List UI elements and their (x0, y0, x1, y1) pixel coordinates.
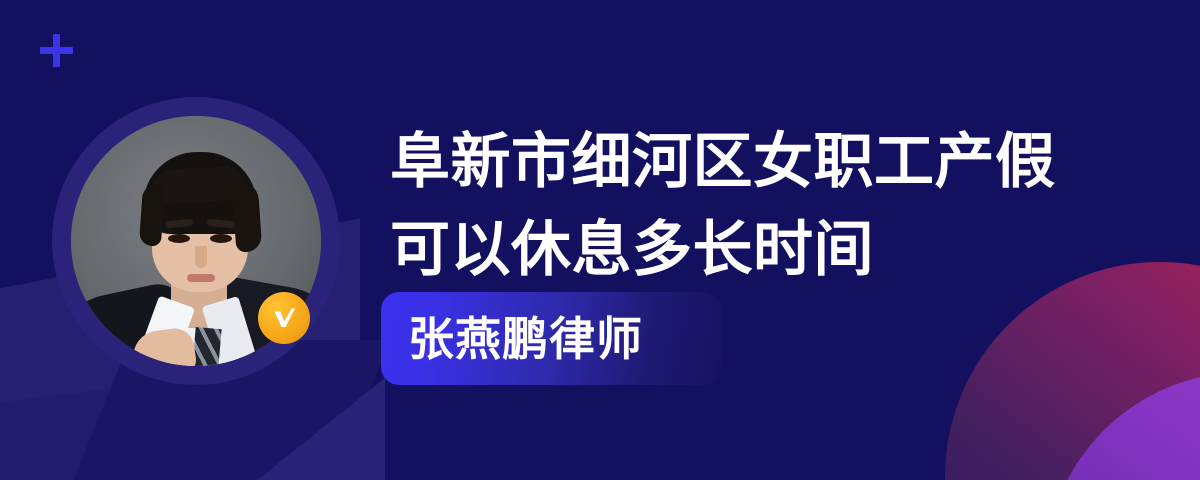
portrait-hair-side-left (139, 183, 165, 246)
verified-check-icon (258, 292, 310, 344)
plus-icon (40, 34, 73, 67)
author-name-badge[interactable]: 张燕鹏律师 (381, 292, 721, 385)
lawyer-question-banner: 阜新市细河区女职工产假 可以休息多长时间 张燕鹏律师 (0, 0, 1200, 480)
portrait-mouth (187, 274, 215, 282)
plus-icon-bar-vertical (53, 34, 60, 67)
avatar[interactable] (52, 97, 340, 385)
portrait-eye-left (168, 234, 190, 243)
author-name-label: 张燕鹏律师 (408, 316, 643, 362)
page-title: 阜新市细河区女职工产假 可以休息多长时间 (390, 118, 1090, 294)
portrait-eye-right (210, 234, 232, 243)
portrait-nose (195, 246, 207, 268)
